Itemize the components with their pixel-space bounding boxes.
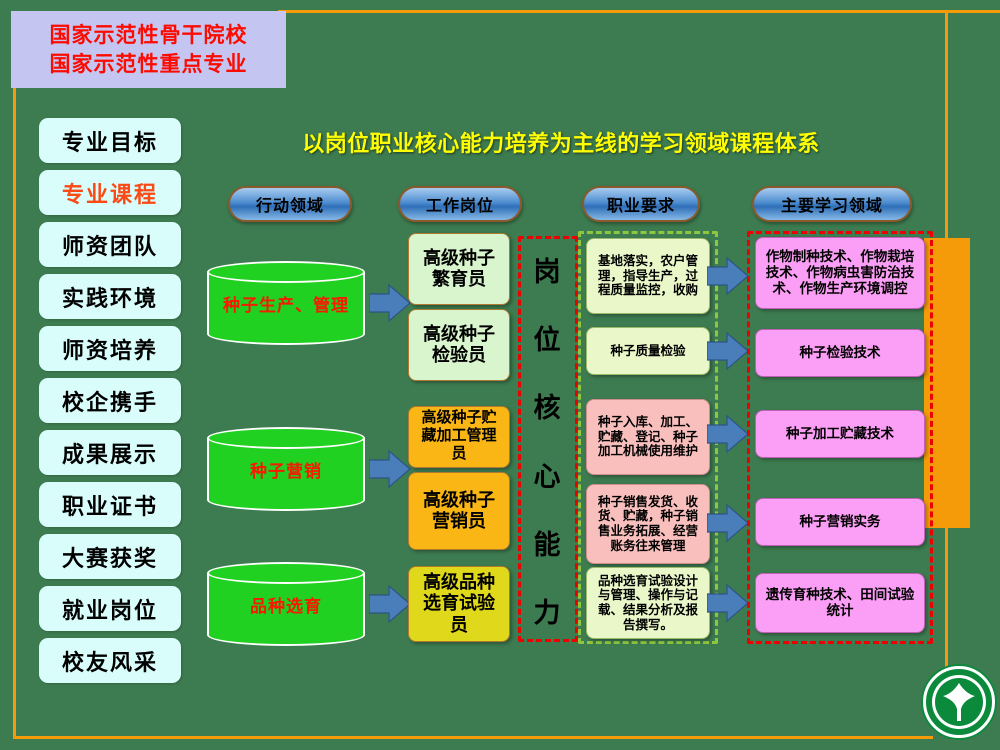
honor-banner-line-2: 国家示范性重点专业 [50, 50, 248, 78]
job-position-seed-inspector: 高级种子检验员 [408, 309, 510, 381]
arrow-right-icon [707, 256, 749, 296]
column-header-job-requirement: 职业要求 [582, 186, 700, 222]
job-requirement-sales-accounting: 种子销售发货、收货、贮藏，种子销售业务拓展、经营账务往来管理 [586, 484, 710, 564]
column-header-action-domain: 行动领域 [228, 186, 352, 222]
action-domain-label: 品种选育 [207, 562, 365, 646]
page-title: 以岗位职业核心能力培养为主线的学习领域课程体系 [206, 126, 916, 158]
sidebar-item-practice-env[interactable]: 实践环境 [39, 274, 181, 319]
sidebar-item-certificates[interactable]: 职业证书 [39, 482, 181, 527]
core-competency-char-6: 力 [534, 591, 561, 630]
column-header-learning-domain: 主要学习领域 [752, 186, 912, 222]
action-domain-label: 种子营销 [207, 427, 365, 511]
arrow-right-icon [707, 503, 749, 543]
job-position-seed-breeder: 高级种子繁育员 [408, 233, 510, 305]
learning-domain-seed-inspection: 种子检验技术 [755, 329, 925, 377]
core-competency-char-4: 心 [534, 455, 561, 494]
sidebar-item-faculty-training[interactable]: 师资培养 [39, 326, 181, 371]
core-competency-char-1: 岗 [534, 250, 561, 289]
job-requirement-production: 基地落实，农户管理，指导生产，过程质量监控，收购 [586, 238, 710, 314]
arrow-right-icon [369, 584, 411, 624]
frame-top-line [278, 10, 1000, 13]
action-domain-seed-production: 种子生产、管理 [207, 261, 365, 345]
action-domain-variety-breeding: 品种选育 [207, 562, 365, 646]
frame-left-line [13, 80, 16, 739]
school-of-biotechnology-logo [923, 666, 995, 738]
arrow-right-icon [707, 331, 749, 371]
core-competency-label: 岗 位 核 心 能 力 [522, 250, 572, 630]
action-domain-label: 种子生产、管理 [207, 261, 365, 345]
sidebar-item-competition-awards[interactable]: 大赛获奖 [39, 534, 181, 579]
core-competency-char-2: 位 [534, 318, 561, 357]
frame-bottom-line [13, 736, 933, 739]
job-position-breeding-trial-technician: 高级品种选育试验员 [408, 566, 510, 642]
learning-domain-processing-storage: 种子加工贮藏技术 [755, 410, 925, 458]
sidebar-item-employment-posts[interactable]: 就业岗位 [39, 586, 181, 631]
sidebar-item-alumni[interactable]: 校友风采 [39, 638, 181, 683]
core-competency-char-3: 核 [534, 386, 561, 425]
job-position-seed-marketer: 高级种子营销员 [408, 472, 510, 550]
sidebar-item-major-goal[interactable]: 专业目标 [39, 118, 181, 163]
arrow-right-icon [369, 283, 411, 323]
job-requirement-breeding-trials: 品种选育试验设计与管理、操作与记载、结果分析及报告撰写。 [586, 567, 710, 639]
action-domain-seed-marketing: 种子营销 [207, 427, 365, 511]
sidebar-item-faculty-team[interactable]: 师资团队 [39, 222, 181, 267]
learning-domain-seed-marketing: 种子营销实务 [755, 498, 925, 546]
arrow-right-icon [369, 449, 411, 489]
job-requirement-processing-storage: 种子入库、加工、贮藏、登记、种子加工机械使用维护 [586, 399, 710, 475]
learning-domain-genetics-breeding: 遗传育种技术、田间试验统计 [755, 573, 925, 633]
core-competency-char-5: 能 [534, 523, 561, 562]
learning-domain-crop-production: 作物制种技术、作物栽培技术、作物病虫害防治技术、作物生产环境调控 [755, 237, 925, 309]
slide-canvas: 国家示范性骨干院校 国家示范性重点专业 专业目标 专业课程 师资团队 实践环境 … [0, 0, 1000, 750]
job-position-storage-processing-manager: 高级种子贮藏加工管理员 [408, 406, 510, 468]
honor-banner-line-1: 国家示范性骨干院校 [50, 21, 248, 49]
sidebar-item-major-courses[interactable]: 专业课程 [39, 170, 181, 215]
arrow-right-icon [707, 414, 749, 454]
job-requirement-quality-inspection: 种子质量检验 [586, 327, 710, 375]
arrow-right-icon [707, 583, 749, 623]
sidebar-nav: 专业目标 专业课程 师资团队 实践环境 师资培养 校企携手 成果展示 职业证书 … [39, 118, 181, 690]
honor-banner: 国家示范性骨干院校 国家示范性重点专业 [11, 11, 286, 88]
sidebar-item-achievements[interactable]: 成果展示 [39, 430, 181, 475]
sidebar-item-school-enterprise[interactable]: 校企携手 [39, 378, 181, 423]
column-header-job-position: 工作岗位 [398, 186, 522, 222]
